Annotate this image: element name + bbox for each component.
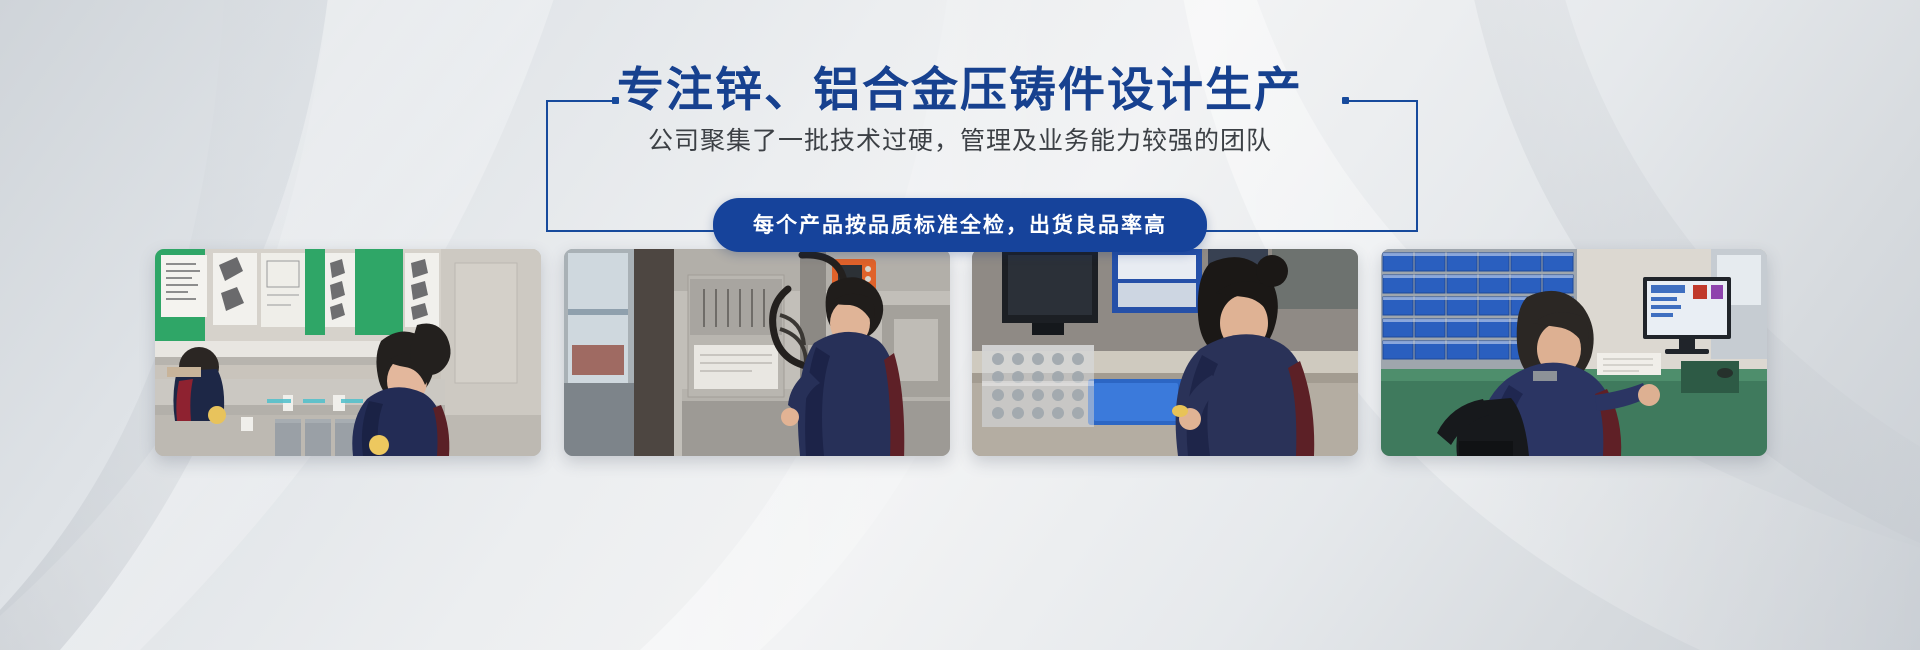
photo-inspection-shelf-image xyxy=(155,249,541,456)
photo-office-workstation-image xyxy=(1381,249,1767,456)
photo-inspection-shelf[interactable] xyxy=(155,249,541,456)
photo-office-workstation[interactable] xyxy=(1381,249,1767,456)
banner-headline: 专注锌、铝合金压铸件设计生产 xyxy=(0,62,1920,117)
parts-tray xyxy=(982,345,1094,427)
photo-strip xyxy=(155,249,1767,456)
photo-packing-station[interactable] xyxy=(972,249,1358,456)
quality-badge: 每个产品按品质标准全检，出货良品率高 xyxy=(713,198,1207,252)
promo-banner: 专注锌、铝合金压铸件设计生产 公司聚集了一批技术过硬，管理及业务能力较强的团队 … xyxy=(0,0,1920,650)
banner-subheadline: 公司聚集了一批技术过硬，管理及业务能力较强的团队 xyxy=(0,123,1920,161)
photo-diecasting-machine-image xyxy=(564,249,950,456)
photo-diecasting-machine[interactable] xyxy=(564,249,950,456)
blue-tray xyxy=(1088,379,1184,425)
photo-packing-station-image xyxy=(972,249,1358,456)
